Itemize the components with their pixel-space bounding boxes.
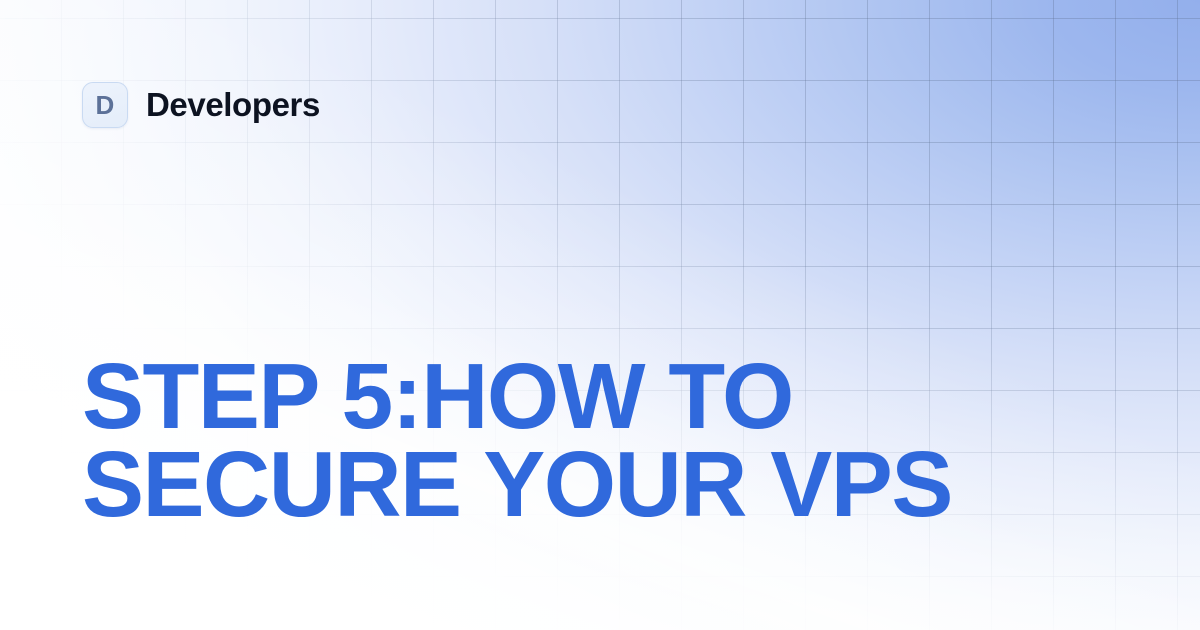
brand-badge-letter: D (96, 92, 115, 118)
brand-name-label: Developers (146, 86, 320, 124)
cover-canvas: D Developers STEP 5:HOW TO SECURE YOUR V… (0, 0, 1200, 630)
brand-lockup: D Developers (82, 82, 320, 128)
headline-line-1: STEP 5:HOW TO (82, 352, 1122, 440)
headline-line-2: SECURE YOUR VPS (82, 440, 1122, 528)
headline-block: STEP 5:HOW TO SECURE YOUR VPS (82, 352, 1122, 528)
brand-logo-badge: D (82, 82, 128, 128)
